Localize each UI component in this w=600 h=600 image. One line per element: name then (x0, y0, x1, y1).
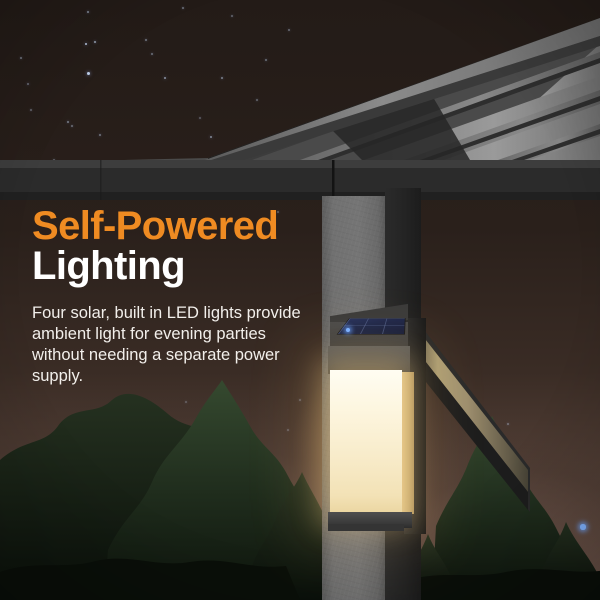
lamp-foot-lip (328, 524, 404, 531)
body-paragraph: Four solar, built in LED lights provide … (32, 303, 322, 387)
page-title: Self-Powered Lighting (32, 206, 332, 286)
headline-white-line: Lighting (32, 246, 332, 286)
post-led-indicator (346, 328, 350, 332)
solar-wall-lamp (326, 300, 430, 540)
headline-accent-line: Self-Powered (32, 206, 332, 246)
lamp-diffuser-lens (330, 370, 402, 516)
product-feature-image: Self-Powered Lighting Four solar, built … (0, 0, 600, 600)
distant-blue-led (580, 524, 585, 529)
marketing-copy-block: Self-Powered Lighting Four solar, built … (32, 206, 332, 387)
standing-seam-metal-roof (0, 0, 600, 230)
lamp-diffuser-side (402, 372, 414, 514)
